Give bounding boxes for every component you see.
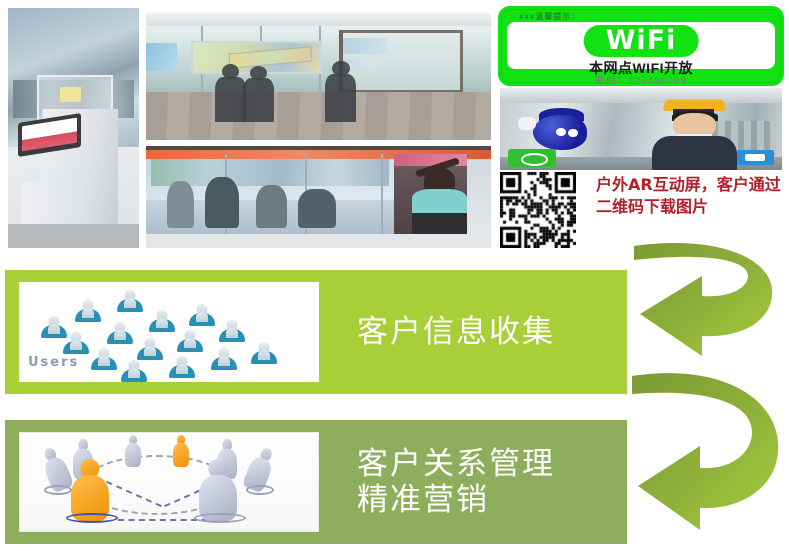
crm-person-gray — [124, 435, 142, 467]
street-person — [167, 181, 195, 228]
ar-refresh-button[interactable] — [508, 149, 556, 167]
corridor-glass-door — [339, 30, 463, 94]
flow-banner-label: 客户关系管理 精准营销 — [357, 446, 555, 518]
kiosk-screen-content — [22, 118, 77, 152]
download-qr-code — [500, 172, 576, 248]
flow-banner-label: 客户信息收集 — [357, 314, 555, 350]
crm-highlight-base — [66, 513, 118, 523]
crm-person-gray-main — [196, 459, 240, 521]
person-silhouette-body — [215, 77, 246, 123]
ar-caption-text: 户外AR互动屏，客户通过二维码下载图片 — [596, 174, 786, 218]
wifi-logo-part2: Fi — [647, 25, 677, 56]
slide-canvas: xxx温馨提示: WiFi 本网点WIFI开放 密码：123456789 — [0, 0, 789, 551]
flow-arrow-top — [626, 238, 786, 366]
flow-banner-label-line2: 精准营销 — [357, 482, 555, 518]
ar-mascot-eye — [556, 128, 566, 136]
ar-customer — [647, 99, 743, 170]
street-person — [256, 185, 287, 228]
street-person — [205, 177, 240, 228]
ar-customer-shirt — [652, 136, 736, 170]
crm-network-illustration — [19, 432, 319, 532]
ar-camera-button[interactable] — [737, 150, 774, 165]
wifi-logo: WiFi — [584, 25, 699, 57]
flow-arrow-bottom — [626, 368, 786, 538]
flow-banner-customer-info: Users 客户信息收集 — [5, 270, 627, 394]
wifi-password-line: 密码：123456789 — [501, 72, 781, 87]
flow-banner-label-line1: 客户关系管理 — [357, 446, 555, 482]
glass-wall-mullion — [381, 154, 383, 234]
flow-banner-crm: 客户关系管理 精准营销 — [5, 420, 627, 544]
ar-mascot-eye — [568, 129, 578, 137]
ar-photo-booth-screen — [500, 88, 782, 170]
wifi-logo-part1: Wi — [606, 25, 647, 56]
staff-shirt — [412, 189, 467, 216]
corridor-floor — [146, 92, 491, 140]
interactive-glass-wall-photo — [146, 146, 491, 248]
glass-wall-floor — [146, 234, 491, 248]
self-service-kiosk-photo — [8, 8, 139, 248]
person-silhouette-body — [325, 74, 356, 122]
corridor-side-screen — [146, 43, 177, 71]
arrow-shape — [634, 243, 772, 356]
ar-mascot-hand — [518, 117, 536, 129]
crm-person-orange-main — [68, 459, 112, 521]
ar-blue-mascot — [523, 106, 596, 154]
users-label: Users — [28, 355, 79, 370]
street-person — [298, 189, 336, 228]
crm-base — [44, 485, 72, 495]
crm-base — [246, 485, 274, 495]
wifi-notice-sign: xxx温馨提示: WiFi 本网点WIFI开放 密码：123456789 — [498, 6, 784, 86]
crm-scene — [20, 433, 318, 531]
kiosk-floor — [8, 224, 139, 248]
digital-signage-corridor-render — [146, 13, 491, 140]
crm-person-orange — [172, 435, 190, 467]
person-silhouette-body — [243, 78, 274, 122]
wifi-top-notice: xxx温馨提示: — [519, 11, 575, 22]
users-illustration: Users — [19, 282, 319, 382]
crm-base — [194, 513, 246, 523]
arrow-shape — [632, 373, 778, 530]
